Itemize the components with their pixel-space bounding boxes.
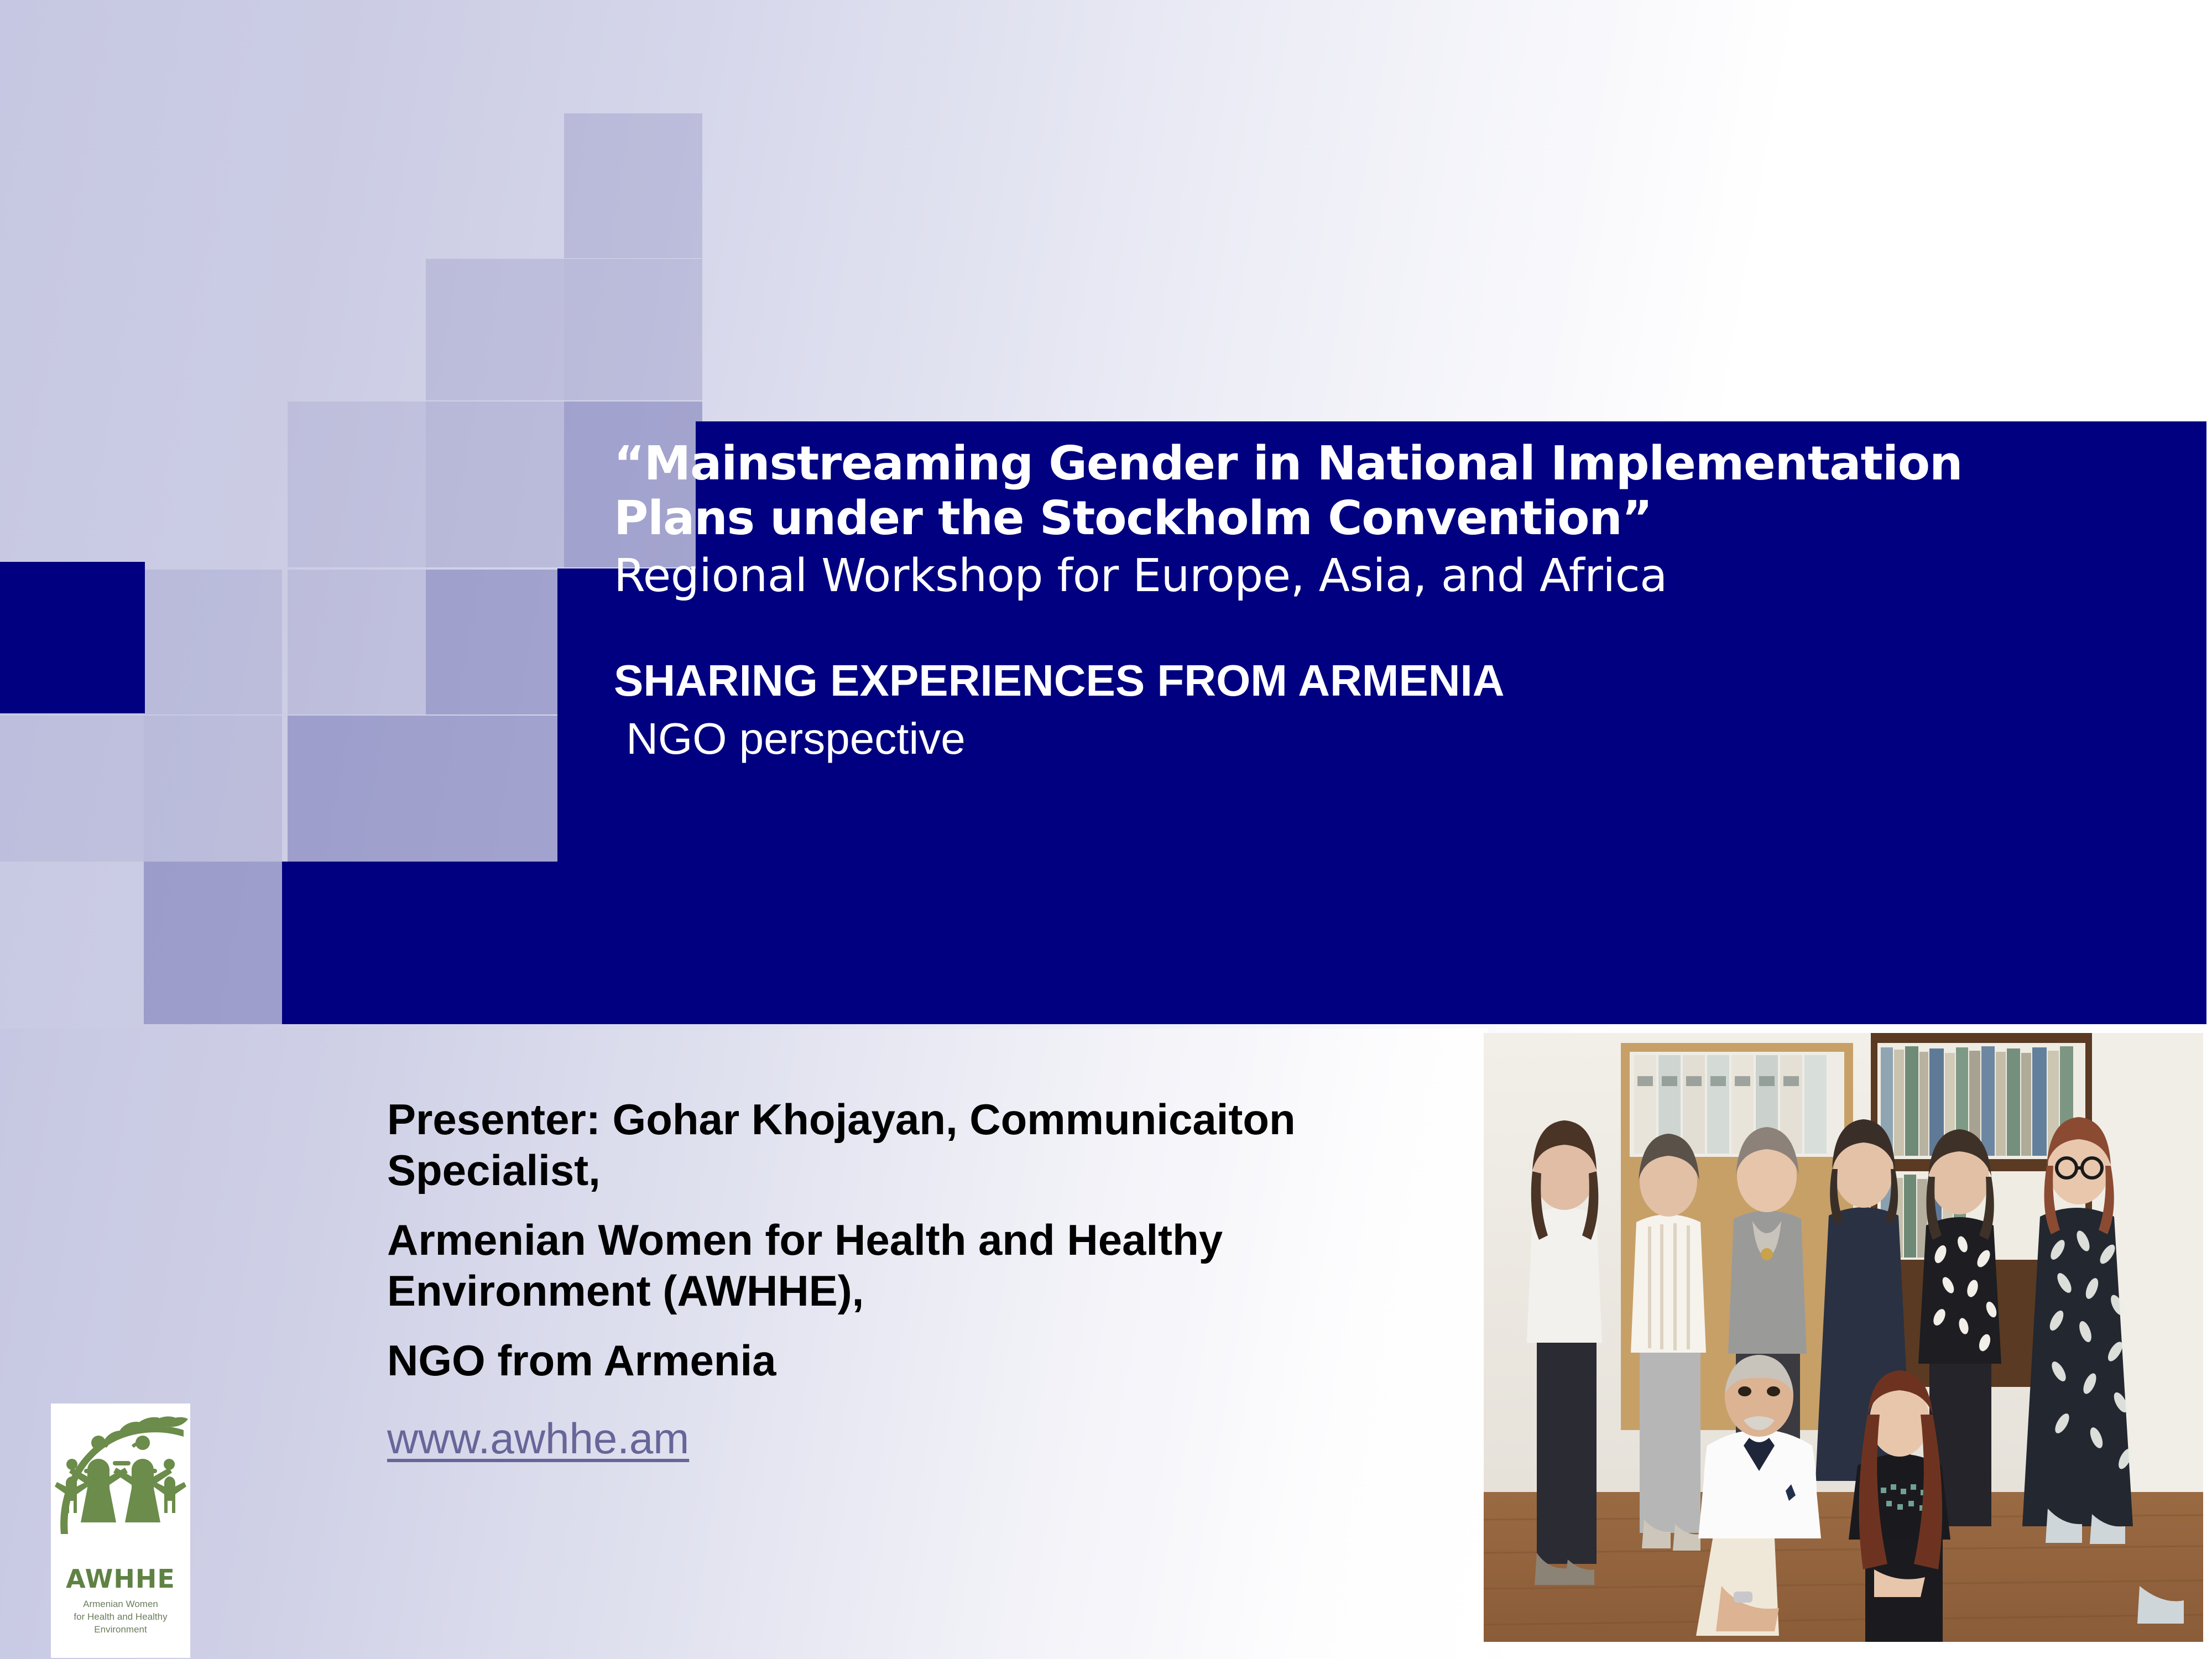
slide-title-line-1: “Mainstreaming Gender in National Implem… (614, 437, 2162, 492)
navy-accent-chip-left (0, 562, 145, 713)
group-photo-illustration (1484, 1033, 2203, 1642)
presenter-name-role: Presenter: Gohar Khojayan, Communicaiton… (387, 1094, 1449, 1196)
presentation-slide: “Mainstreaming Gender in National Implem… (0, 0, 2212, 1659)
decor-square (144, 570, 282, 714)
decor-square (288, 716, 426, 862)
decor-square (564, 113, 702, 258)
title-block: “Mainstreaming Gender in National Implem… (614, 437, 2162, 765)
slide-heading-main: SHARING EXPERIENCES FROM ARMENIA (614, 655, 2162, 707)
slide-subtitle: Regional Workshop for Europe, Asia, and … (614, 549, 2162, 603)
website-link[interactable]: www.awhhe.am (387, 1413, 689, 1464)
decor-square (144, 862, 282, 1024)
decor-square (288, 401, 426, 567)
decor-square (426, 716, 564, 862)
decor-square (144, 716, 282, 862)
logo-tagline: Armenian Women for Health and Healthy En… (74, 1598, 167, 1636)
presenter-organization: Armenian Women for Health and Healthy En… (387, 1214, 1449, 1316)
title-spacer (614, 604, 2162, 655)
group-photo (1484, 1033, 2203, 1642)
decor-square (426, 259, 564, 400)
presenter-country: NGO from Armenia (387, 1335, 1449, 1386)
slide-heading-sub: NGO perspective (614, 712, 2162, 765)
logo-acronym: AWHHE (66, 1566, 175, 1592)
decor-square (426, 401, 564, 567)
presenter-block: Presenter: Gohar Khojayan, Communicaiton… (387, 1094, 1449, 1464)
awhhe-logo: AWHHE Armenian Women for Health and Heal… (51, 1404, 190, 1658)
decor-square (564, 259, 702, 400)
navy-title-panel-step-lower (282, 862, 564, 1024)
decor-square (288, 570, 426, 714)
slide-title-line-2: Plans under the Stockholm Convention” (614, 492, 2162, 546)
decor-square (426, 570, 564, 714)
decor-square (0, 716, 144, 862)
women-and-children-under-branch-icon (51, 1404, 190, 1569)
